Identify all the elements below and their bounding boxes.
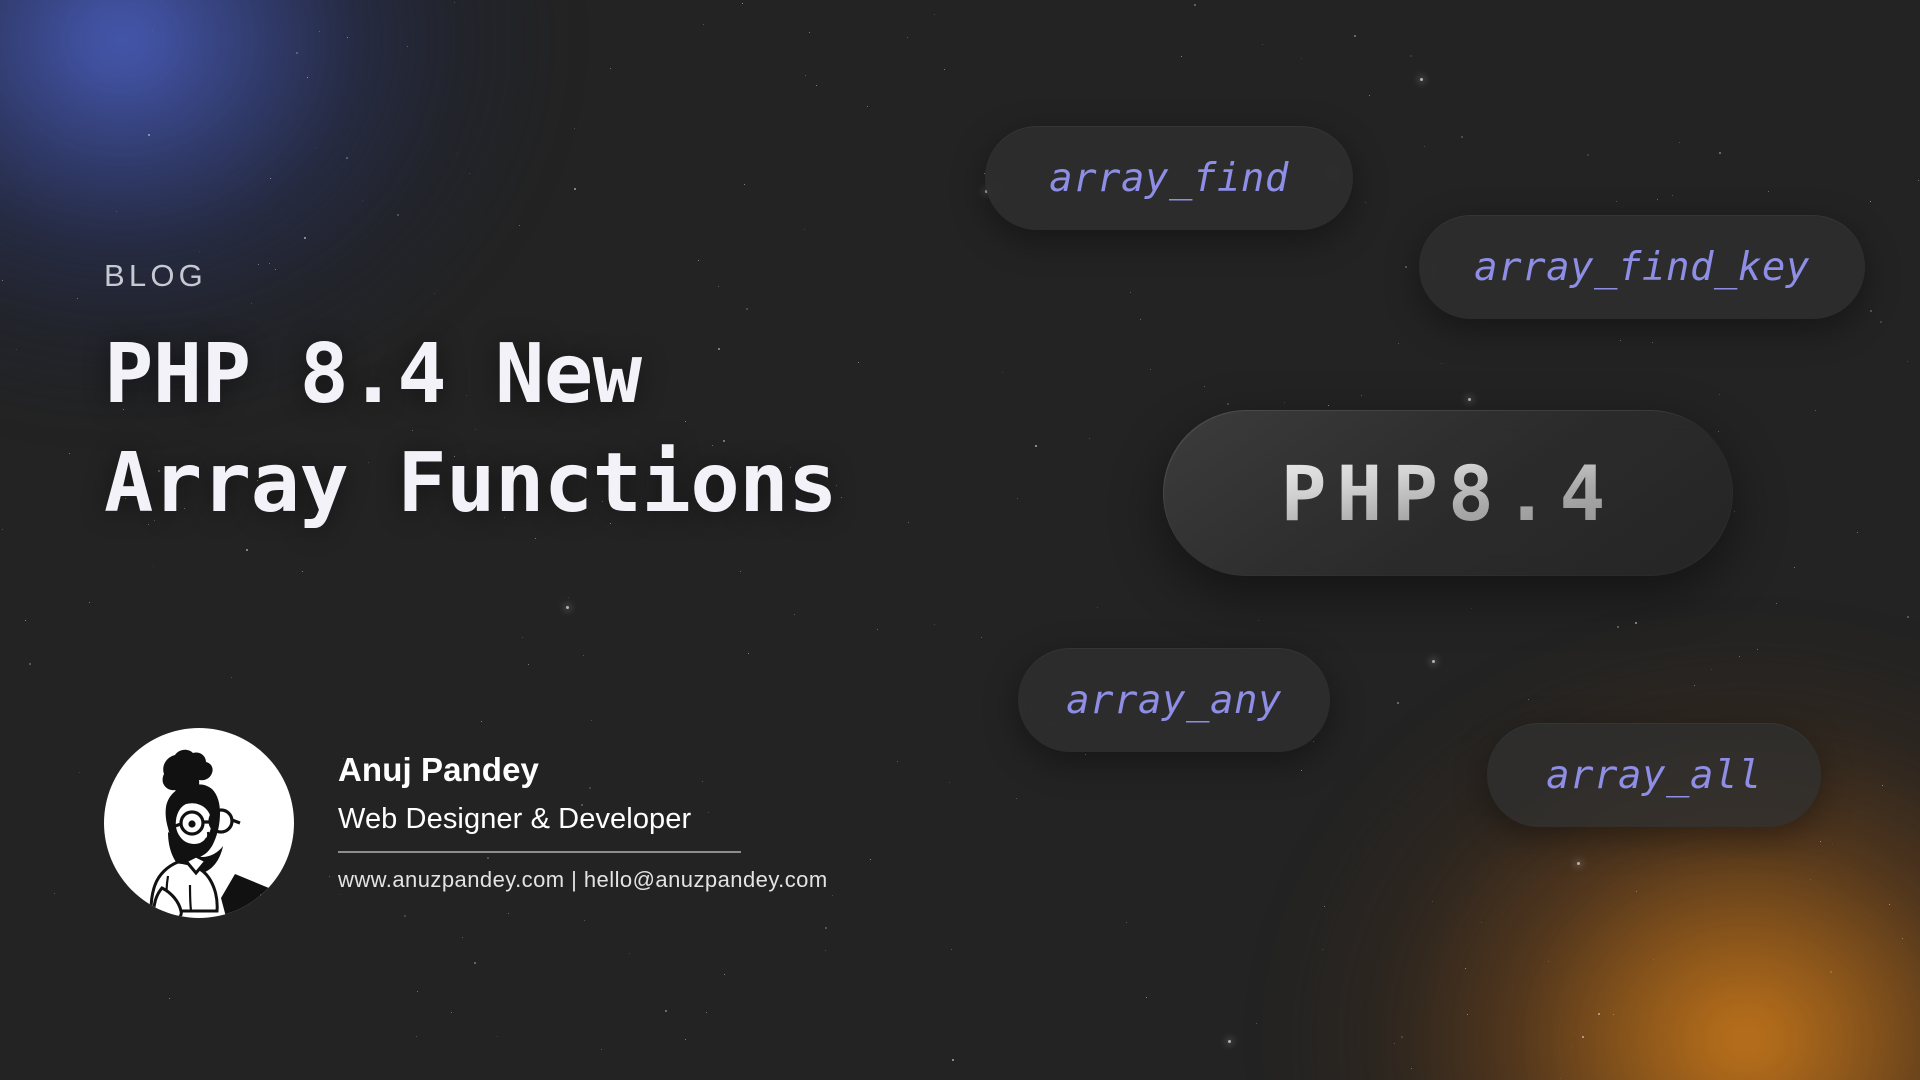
star-dot (1587, 154, 1589, 156)
star-dot (1481, 922, 1482, 923)
star-dot (1636, 891, 1637, 892)
badge-label: array_any (1066, 678, 1282, 723)
star-dot (1776, 603, 1777, 604)
title-block: BLOG PHP 8.4 New Array Functions (104, 0, 1064, 1080)
star-dot (1635, 622, 1637, 624)
star-dot (54, 893, 55, 894)
star-dot (1613, 1014, 1614, 1015)
star-dot (1857, 532, 1858, 533)
star-dot (1880, 321, 1882, 323)
avatar-illustration-icon (104, 728, 294, 918)
star-dot (79, 772, 80, 773)
star-dot (1768, 191, 1769, 192)
star-dot (1181, 56, 1182, 57)
star-dot (1882, 785, 1883, 786)
star-glow-dot (1468, 398, 1471, 401)
star-dot (1328, 405, 1329, 406)
php-version-label: PHP8.4 (1281, 449, 1616, 538)
star-dot (2, 280, 3, 281)
star-dot (25, 620, 26, 621)
star-glow-dot (1420, 78, 1423, 81)
page-title: PHP 8.4 New Array Functions (104, 320, 837, 538)
star-dot (1711, 669, 1712, 670)
star-dot (1582, 1036, 1584, 1038)
star-dot (1679, 142, 1680, 143)
star-dot (1918, 180, 1919, 181)
author-contact: www.anuzpandey.com | hello@anuzpandey.co… (338, 867, 828, 893)
star-dot (1718, 431, 1719, 432)
star-dot (1889, 904, 1890, 905)
star-dot (1324, 906, 1325, 907)
star-dot (1194, 4, 1196, 6)
star-dot (29, 663, 31, 665)
author-card: Anuj Pandey Web Designer & Developer www… (104, 728, 828, 918)
star-dot (1097, 607, 1098, 608)
star-dot (1301, 770, 1302, 771)
star-dot (1432, 901, 1433, 902)
star-dot (1815, 410, 1816, 411)
star-dot (1719, 394, 1720, 395)
star-dot (1907, 361, 1908, 362)
star-dot (1258, 620, 1259, 621)
star-dot (1734, 511, 1735, 512)
star-dot (1467, 1014, 1468, 1015)
star-dot (1694, 685, 1695, 686)
star-dot (1256, 1023, 1257, 1024)
star-dot (1870, 201, 1871, 202)
star-dot (1085, 754, 1086, 755)
star-dot (1672, 195, 1673, 196)
star-dot (1322, 949, 1323, 950)
star-dot (2, 529, 3, 530)
star-dot (1401, 1036, 1403, 1038)
star-dot (1313, 741, 1314, 742)
star-dot (1830, 971, 1832, 973)
star-dot (1126, 922, 1127, 923)
star-dot (1620, 340, 1621, 341)
star-dot (1757, 649, 1758, 650)
badge-array-find-key: array_find_key (1419, 215, 1865, 319)
star-dot (1354, 35, 1356, 37)
star-dot (1369, 95, 1370, 96)
star-dot (1227, 403, 1229, 405)
page-title-line-2: Array Functions (104, 436, 837, 531)
star-dot (1617, 626, 1619, 628)
star-dot (69, 453, 70, 454)
star-dot (1657, 199, 1658, 200)
star-dot (1424, 146, 1425, 147)
category-kicker: BLOG (104, 258, 207, 294)
badge-label: array_find (1049, 156, 1289, 201)
star-dot (1411, 1068, 1412, 1069)
star-dot (1548, 961, 1549, 962)
star-dot (1810, 879, 1811, 880)
divider (338, 851, 741, 853)
star-dot (1528, 699, 1529, 700)
star-dot (1365, 202, 1366, 203)
star-dot (1410, 55, 1412, 57)
star-dot (1832, 844, 1833, 845)
page-title-line-1: PHP 8.4 New (104, 327, 642, 422)
author-role: Web Designer & Developer (338, 802, 828, 837)
badge-array-all: array_all (1487, 723, 1821, 827)
star-dot (1820, 841, 1821, 842)
star-dot (1262, 44, 1263, 45)
star-dot (1130, 292, 1131, 293)
star-glow-dot (1577, 862, 1580, 865)
star-dot (1398, 343, 1399, 344)
star-dot (1870, 310, 1872, 312)
star-dot (1146, 997, 1147, 998)
star-dot (16, 349, 17, 350)
star-dot (1397, 702, 1399, 704)
star-dot (1465, 968, 1466, 969)
star-dot (77, 298, 78, 299)
star-glow-dot (1432, 660, 1435, 663)
star-dot (1653, 959, 1654, 960)
star-dot (1089, 438, 1090, 439)
badge-label: array_find_key (1474, 245, 1810, 290)
author-details: Anuj Pandey Web Designer & Developer www… (338, 728, 828, 893)
star-dot (1441, 363, 1442, 364)
star-dot (1284, 402, 1285, 403)
avatar (104, 728, 294, 918)
badge-array-find: array_find (985, 126, 1353, 230)
star-dot (1902, 938, 1903, 939)
star-dot (1394, 1043, 1395, 1044)
star-dot (1461, 136, 1463, 138)
badge-array-any: array_any (1018, 648, 1330, 752)
star-dot (89, 602, 90, 603)
star-dot (1572, 1046, 1573, 1047)
star-dot (1719, 152, 1721, 154)
star-dot (1471, 608, 1472, 609)
badge-php-version: PHP8.4 (1163, 410, 1733, 576)
star-dot (1794, 567, 1795, 568)
author-name: Anuj Pandey (338, 750, 828, 790)
star-dot (1361, 395, 1362, 396)
star-dot (1907, 616, 1909, 618)
star-glow-dot (1228, 1040, 1231, 1043)
star-dot (1739, 656, 1740, 657)
star-dot (1204, 386, 1205, 387)
star-dot (1140, 319, 1141, 320)
star-dot (1150, 369, 1151, 370)
star-dot (1405, 266, 1407, 268)
star-dot (1301, 58, 1302, 59)
star-dot (1574, 1033, 1575, 1034)
star-dot (1598, 1013, 1600, 1015)
star-dot (1616, 201, 1617, 202)
badge-label: array_all (1546, 753, 1762, 798)
star-dot (1560, 1078, 1561, 1079)
star-dot (1652, 342, 1653, 343)
blog-cover-canvas: BLOG PHP 8.4 New Array Functions (0, 0, 1920, 1080)
